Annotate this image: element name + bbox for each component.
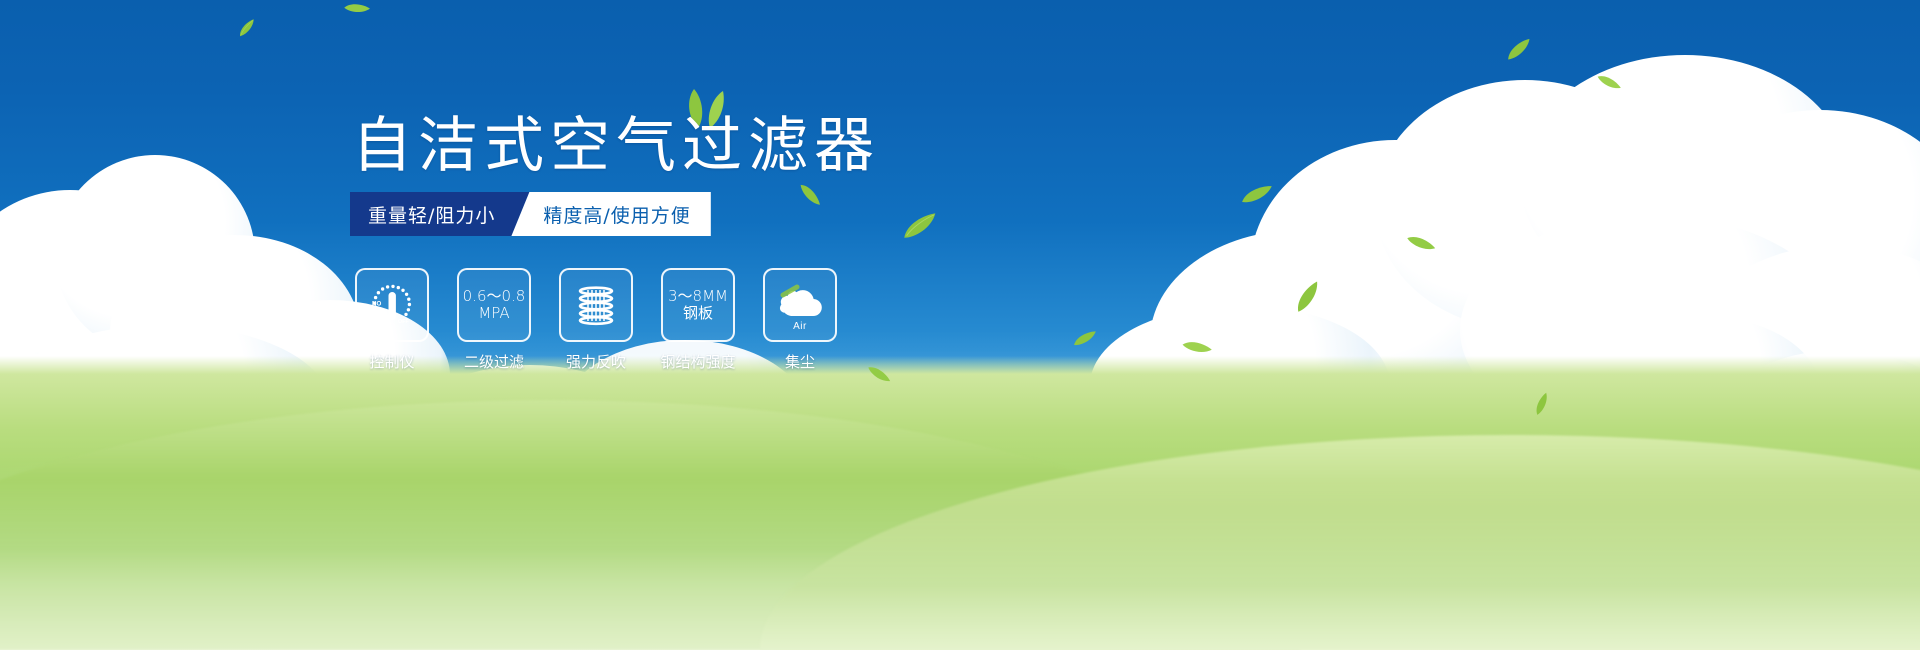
steel-plate-text-icon: 3～8MM 钢板 [668, 288, 728, 322]
feature-icon-box: Air [763, 268, 837, 342]
pressure-text-icon: 0.6～0.8 MPA [463, 288, 526, 322]
feature-item-controller[interactable]: NO OFF 控制仪 [355, 268, 429, 372]
page-title: 自洁式空气过滤器 [352, 116, 880, 176]
steel-value-line1: 3～8MM [668, 288, 728, 305]
feature-label: 钢结构强度 [661, 351, 736, 372]
air-label: Air [793, 321, 807, 332]
steel-value-line2: 钢板 [668, 305, 728, 322]
subtitle-badge-secondary: 精度高/使用方便 [511, 192, 710, 236]
pressure-value-line2: MPA [463, 305, 526, 322]
hero-banner: 自洁式空气过滤器 重量轻/阻力小 精度高/使用方便 [0, 0, 1920, 650]
subtitle-badge-primary: 重量轻/阻力小 [350, 192, 529, 236]
feature-icon-box [559, 268, 633, 342]
pressure-value-line1: 0.6～0.8 [463, 288, 526, 305]
feature-label: 控制仪 [369, 351, 414, 372]
feature-icon-row: NO OFF 控制仪 0.6～0.8 MPA 二级过滤 [355, 268, 837, 372]
cloud-air-icon [773, 282, 827, 320]
gauge-icon: NO OFF [365, 278, 419, 332]
subtitle-badge-group: 重量轻/阻力小 精度高/使用方便 [350, 192, 711, 236]
feature-item-steel-strength[interactable]: 3～8MM 钢板 钢结构强度 [661, 268, 735, 372]
filter-cartridge-icon [569, 278, 623, 332]
feature-icon-box: 0.6～0.8 MPA [457, 268, 531, 342]
svg-text:NO: NO [372, 301, 381, 308]
feature-item-filtration[interactable]: 0.6～0.8 MPA 二级过滤 [457, 268, 531, 372]
banner-content: 自洁式空气过滤器 重量轻/阻力小 精度高/使用方便 [0, 0, 1920, 650]
feature-icon-box: 3～8MM 钢板 [661, 268, 735, 342]
svg-text:OFF: OFF [398, 319, 409, 325]
feature-label: 强力反吹 [566, 351, 626, 372]
feature-label: 集尘 [785, 351, 815, 372]
feature-label: 二级过滤 [464, 351, 524, 372]
feature-item-dust-collection[interactable]: Air 集尘 [763, 268, 837, 372]
feature-icon-box: NO OFF [355, 268, 429, 342]
feature-item-backblow[interactable]: 强力反吹 [559, 268, 633, 372]
